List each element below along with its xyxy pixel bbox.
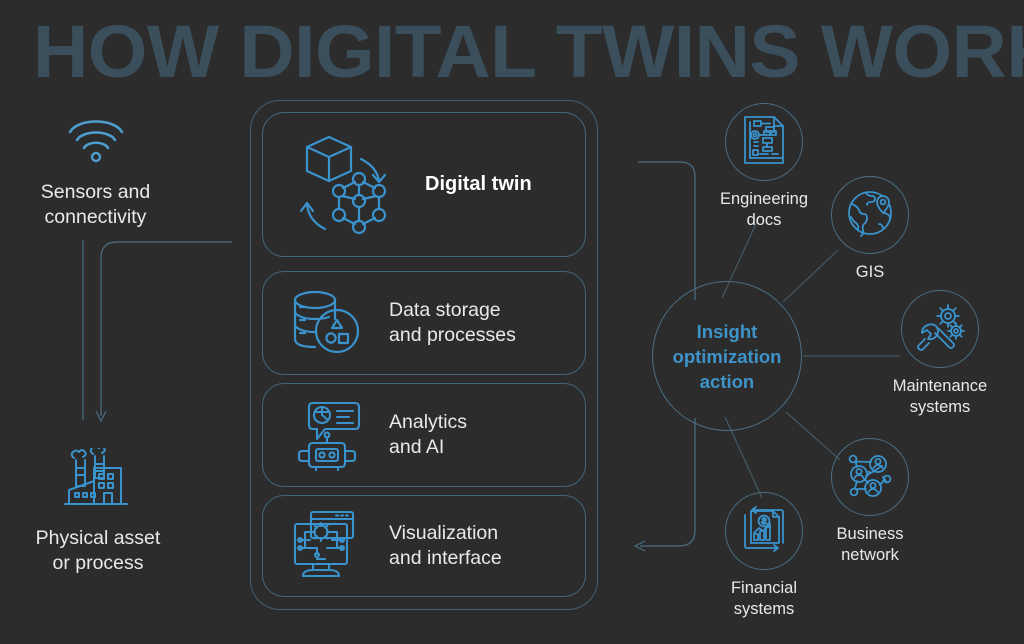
core-card-data-storage-label: Data storage and processes: [389, 298, 516, 348]
arrowhead-asset: [96, 411, 106, 421]
core-card-digital-twin-label: Digital twin: [425, 172, 532, 197]
output-node-business-network-circle: [831, 438, 909, 516]
globe-pin-icon: [846, 189, 894, 242]
output-node-maintenance-systems-circle: [901, 290, 979, 368]
wifi-signal-icon: [18, 108, 173, 169]
core-card-visualization[interactable]: Visualization and interface: [262, 495, 586, 597]
monitor-gear-circuit-icon: [289, 510, 363, 582]
output-node-business-network-label: Business network: [808, 524, 932, 566]
output-node-gis-circle: [831, 176, 909, 254]
database-shapes-icon: [289, 287, 363, 359]
connector-panel-to-asset: [101, 242, 232, 416]
core-card-analytics[interactable]: Analytics and AI: [262, 383, 586, 487]
gears-wrench-icon: [915, 303, 965, 356]
connector-panel-to-hub: [638, 162, 695, 300]
output-node-business-network[interactable]: Business network: [808, 438, 932, 566]
output-node-financial-systems[interactable]: Financial systems: [702, 492, 826, 620]
output-node-maintenance-systems-label: Maintenance systems: [878, 376, 1002, 418]
people-network-icon: [845, 451, 895, 504]
output-node-engineering-docs-circle: [725, 103, 803, 181]
arrowhead-panel-return: [635, 541, 645, 551]
robot-chat-icon: [289, 399, 363, 471]
output-node-financial-systems-label: Financial systems: [702, 578, 826, 620]
core-card-data-storage[interactable]: Data storage and processes: [262, 271, 586, 375]
core-card-analytics-label: Analytics and AI: [389, 410, 467, 460]
input-node-asset: Physical asset or process: [18, 448, 178, 576]
output-node-gis[interactable]: GIS: [808, 176, 932, 283]
input-node-asset-label: Physical asset or process: [18, 526, 178, 576]
cube-network-icon: [289, 131, 399, 239]
blueprint-document-icon: [740, 115, 788, 170]
core-card-digital-twin[interactable]: Digital twin: [262, 112, 586, 257]
input-node-sensors: Sensors and connectivity: [18, 108, 173, 230]
financial-chart-document-icon: [739, 505, 789, 558]
input-node-sensors-label: Sensors and connectivity: [18, 180, 173, 230]
output-node-maintenance-systems[interactable]: Maintenance systems: [878, 290, 1002, 418]
output-node-financial-systems-circle: [725, 492, 803, 570]
core-card-visualization-label: Visualization and interface: [389, 521, 502, 571]
connector-hub-to-panel: [640, 418, 695, 546]
hub-label: Insight optimization action: [673, 319, 782, 394]
page-title: HOW DIGITAL TWINS WORK: [33, 12, 1024, 92]
factory-icon: [18, 448, 178, 515]
hub-insight-optimization-action[interactable]: Insight optimization action: [652, 281, 802, 431]
infographic-root: HOW DIGITAL TWINS WORK Sensors and co: [0, 0, 1024, 644]
output-node-gis-label: GIS: [808, 262, 932, 283]
